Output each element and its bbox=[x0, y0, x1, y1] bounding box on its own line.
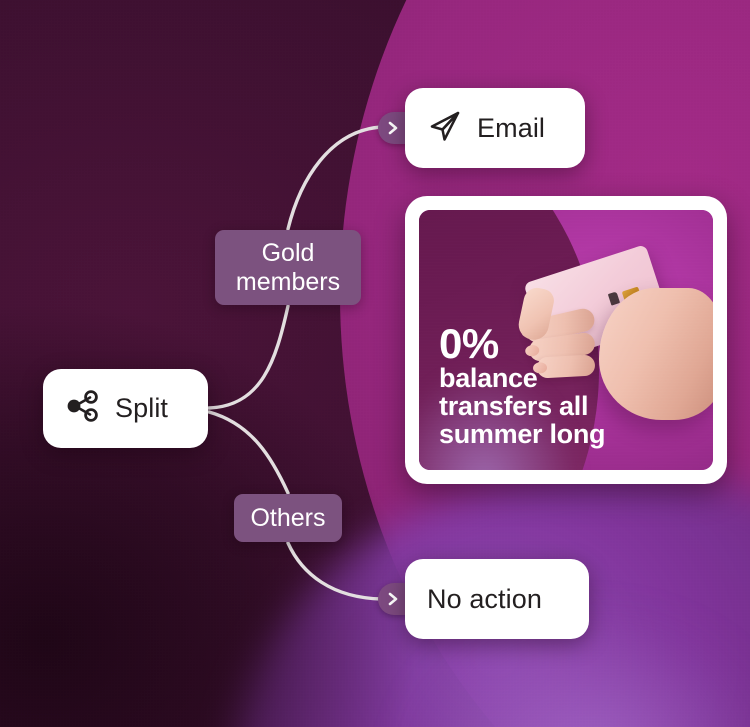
creative-headline: 0% bbox=[439, 323, 605, 364]
branch-label-others[interactable]: Others bbox=[234, 494, 342, 542]
wire-others-to-noaction bbox=[288, 543, 382, 599]
email-creative-preview[interactable]: 0% balance transfers all summer long bbox=[405, 196, 727, 484]
branch-label-others-text: Others bbox=[250, 504, 325, 533]
creative-line-1: balance bbox=[439, 364, 605, 392]
chevron-right-icon bbox=[386, 120, 400, 136]
wire-split-to-gold bbox=[209, 306, 288, 408]
share-icon bbox=[63, 387, 101, 430]
node-no-action[interactable]: No action bbox=[405, 559, 589, 639]
flow-canvas: Split Gold members Others Email No actio… bbox=[0, 0, 750, 727]
node-email-label: Email bbox=[477, 113, 545, 144]
branch-label-gold-members[interactable]: Gold members bbox=[215, 230, 361, 305]
chevron-right-icon bbox=[386, 591, 400, 607]
creative-copy: 0% balance transfers all summer long bbox=[439, 323, 605, 448]
node-split[interactable]: Split bbox=[43, 369, 208, 448]
creative-line-3: summer long bbox=[439, 420, 605, 448]
node-email[interactable]: Email bbox=[405, 88, 585, 168]
wire-gold-to-email bbox=[288, 127, 382, 229]
connector-badge-no-action[interactable] bbox=[378, 583, 408, 615]
paper-plane-icon bbox=[427, 108, 463, 149]
wire-split-to-others bbox=[209, 412, 288, 493]
branch-label-gold-members-text: Gold members bbox=[215, 239, 361, 297]
node-no-action-label: No action bbox=[427, 584, 542, 615]
creative-image: 0% balance transfers all summer long bbox=[419, 210, 713, 470]
creative-line-2: transfers all bbox=[439, 392, 605, 420]
connector-badge-email[interactable] bbox=[378, 112, 408, 144]
node-split-label: Split bbox=[115, 393, 168, 424]
